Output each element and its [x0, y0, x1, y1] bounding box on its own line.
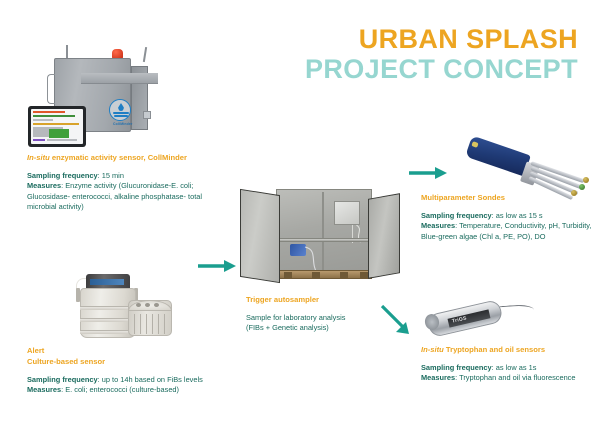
autosampler-cabinet-photo	[240, 182, 406, 286]
cabinet-door-left	[240, 189, 280, 283]
sondes-sampling-label: Sampling frequency	[421, 211, 492, 220]
lid-hole-2	[145, 303, 150, 307]
tryptophan-oil-sensor-photo: TriOS	[420, 299, 540, 347]
pallet-block-4	[360, 272, 368, 279]
lid-grate-6	[164, 314, 165, 334]
alert-measures-value: : E. coli; enterococci (culture-based)	[61, 385, 179, 394]
chart-bar-green	[49, 129, 69, 138]
collminder-text-block: In-situ enzymatic activity sensor, CollM…	[27, 153, 232, 213]
pallet-block-3	[340, 272, 348, 279]
antenna-right-icon	[143, 47, 147, 62]
alert-sampling-line: Sampling frequency: up to 14h based on F…	[27, 375, 247, 386]
lid-grate-5	[158, 314, 159, 334]
wave-line-2-icon	[114, 115, 128, 117]
tryptophan-sampling-line: Sampling frequency: as low as 1s	[421, 363, 596, 374]
collminder-sampling-value: : 15 min	[98, 171, 124, 180]
alert-sampling-label: Sampling frequency	[27, 375, 98, 384]
lid-grate-3	[146, 314, 147, 334]
tryptophan-text-block: In-situ Tryptophan and oil sensors Sampl…	[421, 345, 596, 384]
lid-grate-1	[134, 314, 135, 334]
pallet-block-2	[312, 272, 320, 279]
lid-hole-1	[136, 303, 141, 307]
tryptophan-heading-rest: Tryptophan and oil sensors	[444, 345, 545, 354]
sondes-sampling-line: Sampling frequency: as low as 15 s	[421, 211, 596, 222]
chart-row-4	[33, 123, 79, 125]
tryptophan-heading: In-situ Tryptophan and oil sensors	[421, 345, 596, 356]
tryptophan-body: Sampling frequency: as low as 1s Measure…	[421, 363, 596, 384]
alert-culture-sensor-photo	[66, 252, 178, 350]
alert-heading-line-1: Alert	[27, 346, 247, 357]
tryptophan-measures-label: Measures	[421, 373, 455, 382]
control-monitor	[28, 106, 86, 147]
collminder-sampling-label: Sampling frequency	[27, 171, 98, 180]
alert-heading-line-2: Culture-based sensor	[27, 357, 247, 368]
collminder-sampling-line: Sampling frequency: 15 min	[27, 171, 232, 182]
cabinet-handle	[47, 74, 55, 104]
chart-row-6	[47, 139, 77, 141]
interior-shelf	[278, 238, 370, 242]
chart-row-2	[33, 115, 75, 117]
water-drop-logo-icon	[109, 99, 131, 121]
alert-heading: Alert Culture-based sensor	[27, 346, 247, 368]
sondes-body: Sampling frequency: as low as 15 s Measu…	[421, 211, 596, 243]
sondes-sampling-value: : as low as 15 s	[492, 211, 543, 220]
sondes-heading: Multiparameter Sondes	[421, 193, 596, 204]
sondes-measures-label: Measures	[421, 221, 455, 230]
arrow-autosampler-to-sondes	[407, 163, 451, 183]
arrow-alert-to-autosampler	[196, 256, 240, 276]
lid-grate-4	[152, 314, 153, 334]
drop-shape-icon	[118, 103, 124, 111]
collminder-heading-rest: enzymatic activity sensor, CollMinder	[50, 153, 187, 162]
sondes-measures-line: Measures: Temperature, Conductivity, pH,…	[421, 221, 596, 242]
cabinet-access-panel	[143, 111, 151, 119]
multiparameter-sonde-photo	[467, 133, 595, 195]
alert-measures-line: Measures: E. coli; enterococci (culture-…	[27, 385, 247, 396]
tryptophan-heading-italic: In-situ	[421, 345, 444, 354]
monitor-display	[31, 109, 83, 144]
collminder-cabinet-photo: CollMinder	[28, 44, 158, 147]
title-line-1: URBAN SPLASH	[305, 24, 578, 54]
control-panel-box	[334, 201, 360, 225]
collminder-measures-line: Measures: Enzyme activity (Glucuronidase…	[27, 181, 232, 213]
tryptophan-measures-line: Measures: Tryptophan and oil via fluores…	[421, 373, 596, 384]
sondes-text-block: Multiparameter Sondes Sampling frequency…	[421, 193, 596, 242]
probe-cap-1-icon	[583, 177, 589, 183]
title-line-2: PROJECT CONCEPT	[305, 54, 578, 84]
tryptophan-measures-value: : Tryptophan and oil via fluorescence	[455, 373, 575, 382]
pallet-block-1	[284, 272, 292, 279]
probe-cap-2-icon	[579, 184, 585, 190]
chart-row-5	[33, 139, 45, 141]
tryptophan-sampling-value: : as low as 1s	[492, 363, 537, 372]
wave-line-1-icon	[113, 112, 129, 114]
chart-row-1	[33, 111, 65, 113]
lid-hole-3	[154, 303, 159, 307]
tryptophan-sampling-label: Sampling frequency	[421, 363, 492, 372]
sensor-cable	[500, 304, 535, 316]
alert-measures-label: Measures	[27, 385, 61, 394]
page-title: URBAN SPLASH PROJECT CONCEPT	[305, 24, 578, 84]
collminder-heading: In-situ enzymatic activity sensor, CollM…	[27, 153, 232, 164]
collminder-body: Sampling frequency: 15 min Measures: Enz…	[27, 171, 232, 213]
cabinet-door-right	[368, 193, 400, 279]
chart-row-3	[33, 119, 53, 121]
alert-sampling-value: : up to 14h based on FiBs levels	[98, 375, 203, 384]
lid-grate-2	[140, 314, 141, 334]
alert-text-block: Alert Culture-based sensor Sampling freq…	[27, 346, 247, 396]
arrow-autosampler-to-tryptophan	[379, 303, 415, 339]
collminder-measures-label: Measures	[27, 181, 61, 190]
collminder-heading-italic: In-situ	[27, 153, 50, 162]
sensor-brand-strip	[90, 279, 124, 285]
alert-body: Sampling frequency: up to 14h based on F…	[27, 375, 247, 396]
collminder-brand-label: CollMinder	[113, 122, 133, 126]
cabinet-lid	[81, 73, 158, 84]
slide-canvas: URBAN SPLASH PROJECT CONCEPT CollMinder	[0, 0, 600, 424]
